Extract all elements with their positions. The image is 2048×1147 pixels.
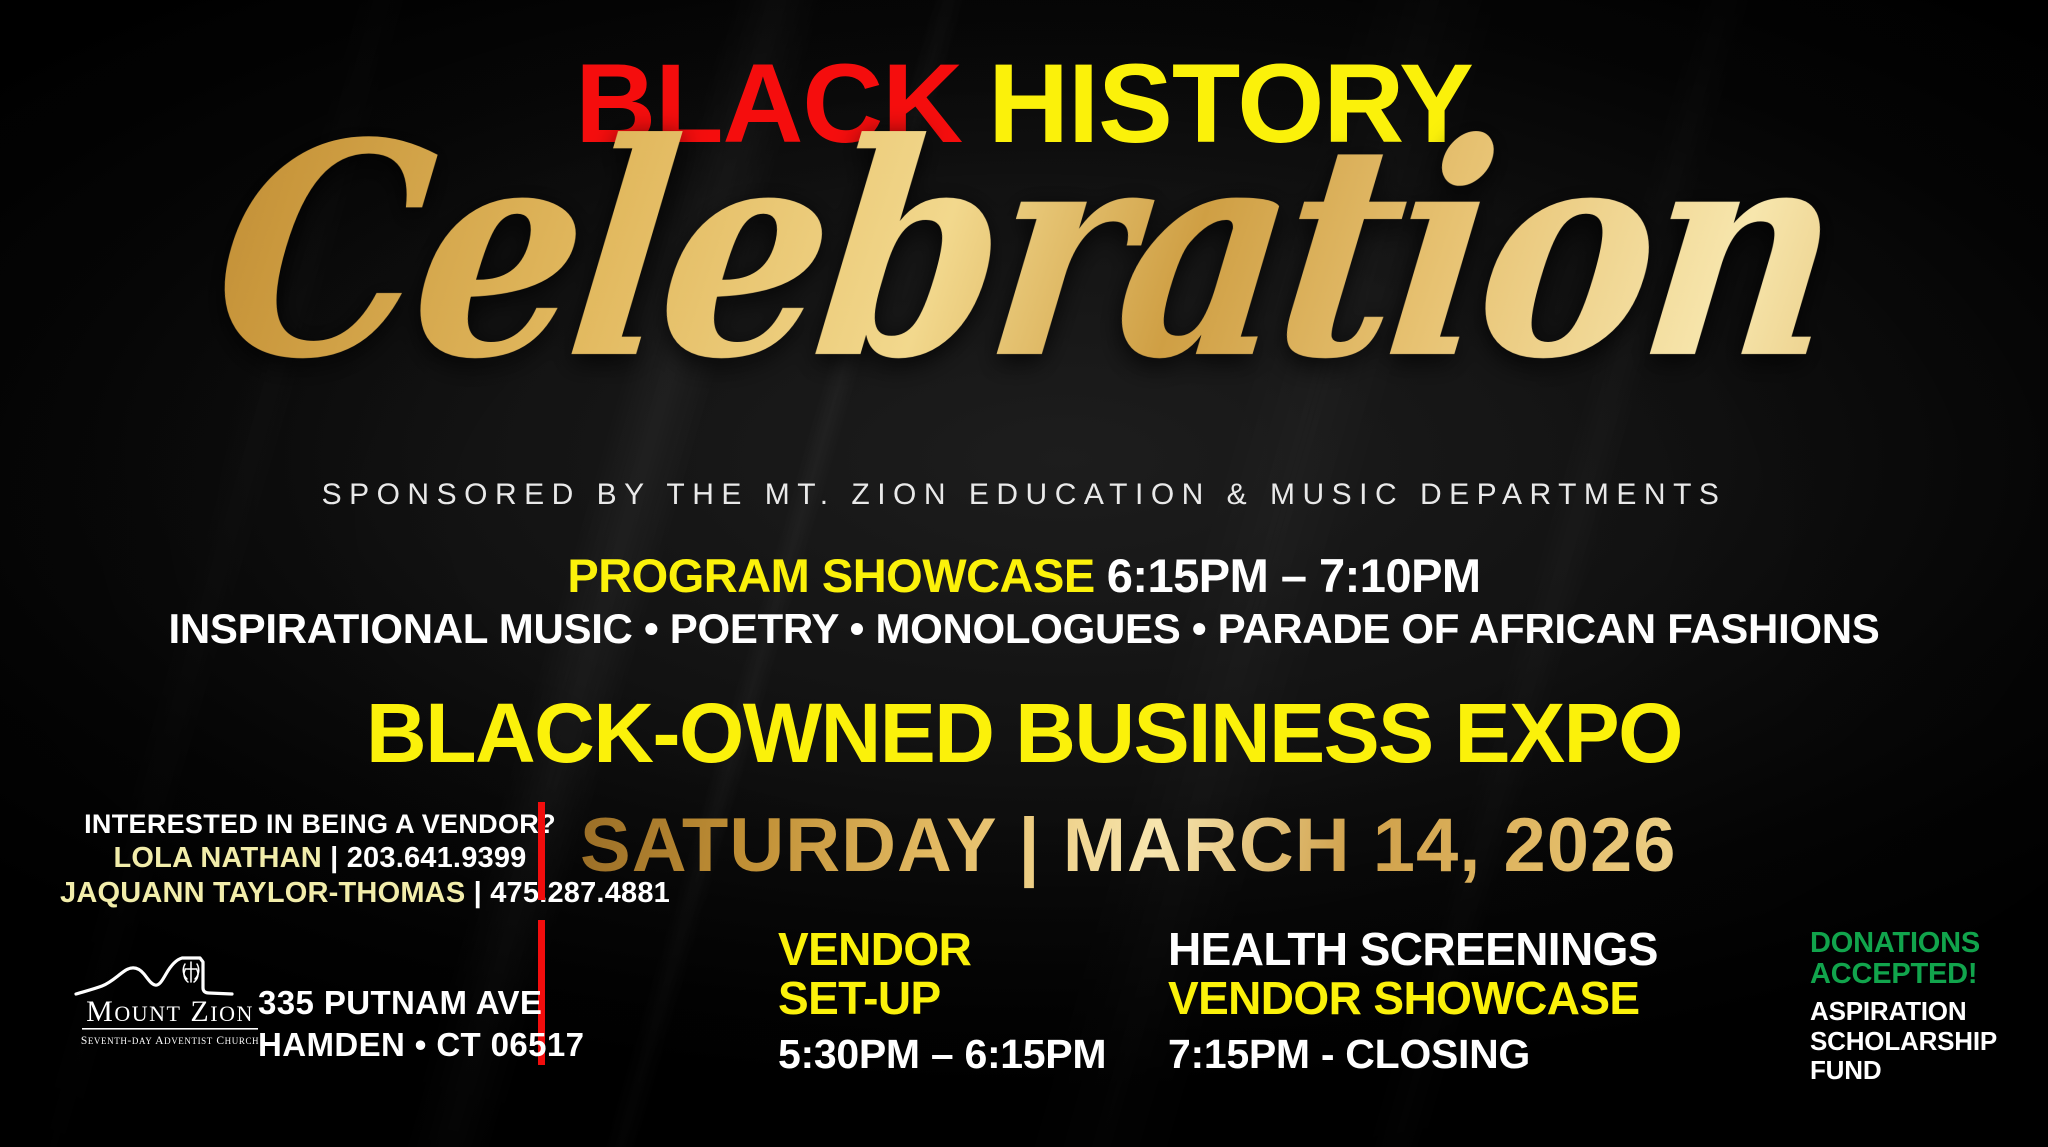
- donations-headline-line-2: ACCEPTED!: [1810, 959, 1997, 990]
- donations-fund-line-3: FUND: [1810, 1056, 1997, 1085]
- program-showcase-label: PROGRAM SHOWCASE: [567, 549, 1094, 602]
- mount-zion-logo: MOUNT ZION SEVENTH-DAY ADVENTIST CHURCH: [70, 948, 270, 1052]
- address-line-1: 335 PUTNAM AVE: [258, 982, 584, 1024]
- donations-block: DONATIONS ACCEPTED! ASPIRATION SCHOLARSH…: [1810, 928, 1997, 1085]
- schedule-title-line-2: SET-UP: [778, 974, 1106, 1023]
- schedule-column-vendor-setup: VENDOR SET-UP 5:30PM – 6:15PM: [778, 925, 1106, 1078]
- program-showcase-line: PROGRAM SHOWCASE6:15PM – 7:10PM: [0, 548, 2048, 603]
- schedule-time: 5:30PM – 6:15PM: [778, 1031, 1106, 1078]
- donations-fund-line-2: SCHOLARSHIP: [1810, 1027, 1997, 1056]
- vendor-contact-separator: |: [322, 842, 347, 874]
- schedule-title-line-1: VENDOR: [778, 925, 1106, 974]
- address-line-2: HAMDEN • CT 06517: [258, 1024, 584, 1066]
- program-showcase-time: 6:15PM – 7:10PM: [1107, 549, 1481, 602]
- venue-address: 335 PUTNAM AVE HAMDEN • CT 06517: [258, 982, 584, 1066]
- schedule-title-line-2: VENDOR SHOWCASE: [1168, 974, 1658, 1023]
- vertical-divider: [538, 802, 545, 900]
- vendor-question: INTERESTED IN BEING A VENDOR?: [60, 808, 580, 841]
- vendor-contact-separator: |: [465, 877, 490, 909]
- flyer-canvas: BLACKHISTORY Celebration SPONSORED BY TH…: [0, 0, 2048, 1147]
- event-date: SATURDAY | MARCH 14, 2026: [580, 802, 2020, 889]
- schedule-title-line-1: HEALTH SCREENINGS: [1168, 925, 1658, 974]
- sponsor-line: SPONSORED BY THE MT. ZION EDUCATION & MU…: [0, 478, 2048, 512]
- vendor-contact-name: LOLA NATHAN: [113, 842, 321, 874]
- script-title-celebration: Celebration: [0, 104, 2048, 397]
- schedule-column-health-screenings: HEALTH SCREENINGS VENDOR SHOWCASE 7:15PM…: [1168, 925, 1658, 1078]
- vendor-contact-name: JAQUANN TAYLOR-THOMAS: [60, 877, 465, 909]
- vendor-contact-row: JAQUANN TAYLOR-THOMAS | 475.287.4881: [60, 876, 580, 911]
- vendor-contact-phone[interactable]: 203.641.9399: [347, 842, 527, 874]
- mount-zion-logo-icon: MOUNT ZION SEVENTH-DAY ADVENTIST CHURCH: [70, 948, 270, 1052]
- vendor-contact-block: INTERESTED IN BEING A VENDOR? LOLA NATHA…: [60, 808, 580, 912]
- logo-wordmark: MOUNT ZION: [86, 995, 254, 1028]
- logo-tagline: SEVENTH-DAY ADVENTIST CHURCH: [81, 1035, 259, 1047]
- schedule-time: 7:15PM - CLOSING: [1168, 1031, 1658, 1078]
- donations-headline-line-1: DONATIONS: [1810, 928, 1997, 959]
- program-items-line: INSPIRATIONAL MUSIC • POETRY • MONOLOGUE…: [0, 605, 2048, 653]
- donations-fund-line-1: ASPIRATION: [1810, 997, 1997, 1026]
- vendor-contact-row: LOLA NATHAN | 203.641.9399: [60, 841, 580, 876]
- expo-banner: BLACK-OWNED BUSINESS EXPO: [0, 685, 2048, 782]
